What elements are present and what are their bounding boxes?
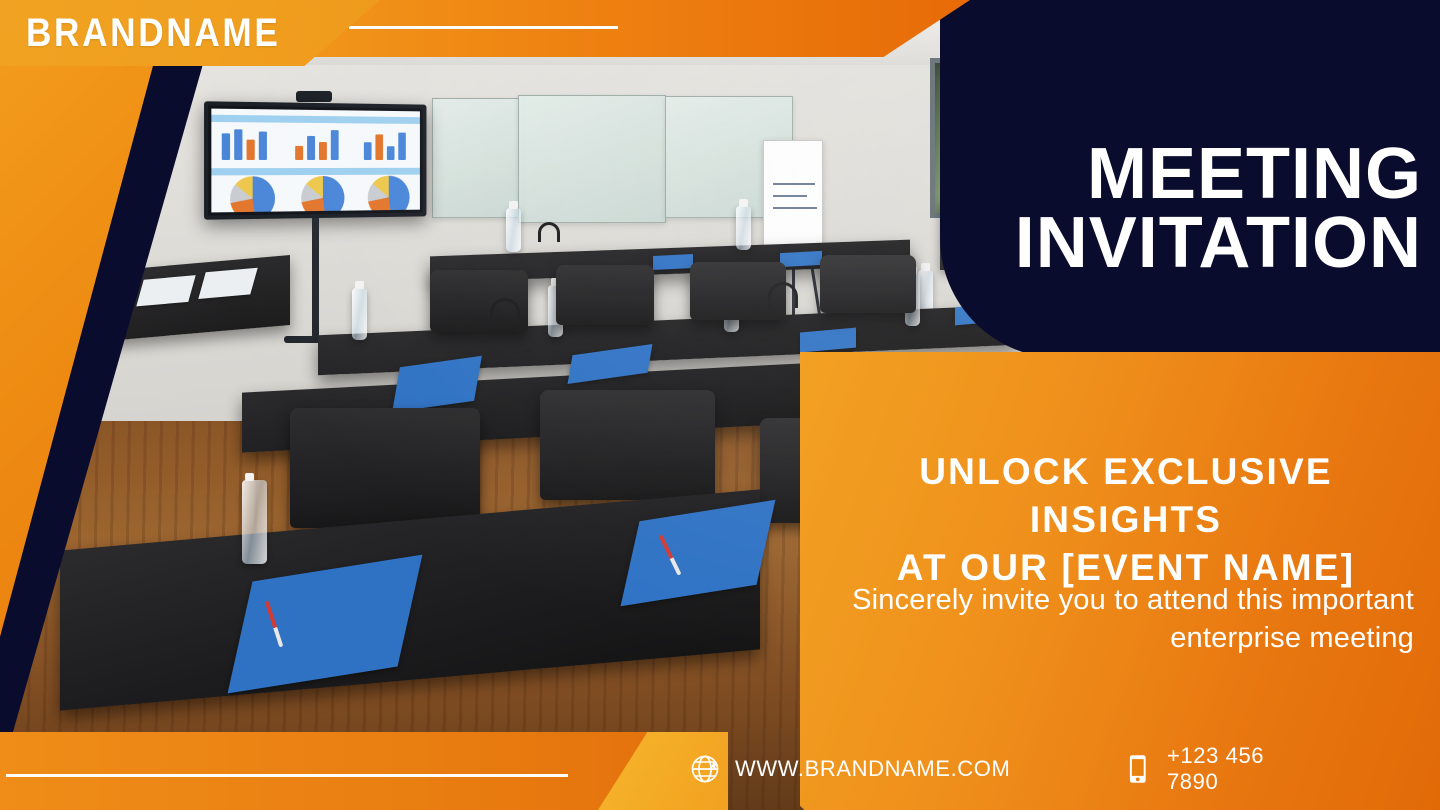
blue-folder: [780, 251, 822, 267]
blue-folder: [653, 254, 693, 270]
website-label: WWW.BRANDNAME.COM: [735, 756, 1010, 782]
chair: [556, 265, 654, 325]
glass-whiteboard: [432, 98, 524, 218]
invitation-body-text: Sincerely invite you to attend this impo…: [794, 582, 1414, 657]
phone-contact[interactable]: +123 456 7890: [1122, 743, 1320, 795]
bottom-orange-bar: [0, 732, 700, 810]
chair: [540, 390, 715, 500]
glass-whiteboard: [518, 95, 666, 223]
brand-name: BRANDNAME: [26, 11, 281, 56]
water-bottle: [506, 208, 521, 252]
presentation-display: [204, 101, 426, 219]
chair: [290, 408, 480, 528]
page-title: MEETING INVITATION: [952, 140, 1422, 278]
tagline-line-1: UNLOCK EXCLUSIVE INSIGHTS: [919, 451, 1332, 540]
water-bottle: [242, 480, 267, 564]
title-line-1: MEETING: [1087, 134, 1422, 214]
microphone: [490, 298, 520, 324]
website-contact[interactable]: WWW.BRANDNAME.COM: [690, 753, 1010, 785]
footer-contacts: WWW.BRANDNAME.COM +123 456 7890: [690, 746, 1320, 792]
display-screen: [211, 109, 420, 213]
chair: [820, 255, 916, 313]
microphone: [538, 222, 560, 242]
flip-chart-board: [763, 140, 823, 248]
globe-icon: [690, 753, 722, 785]
microphone: [768, 282, 798, 308]
bottom-divider-line: [6, 774, 568, 777]
display-camera: [296, 91, 332, 102]
display-stand: [312, 218, 319, 340]
title-line-2: INVITATION: [952, 209, 1422, 278]
phone-label: +123 456 7890: [1167, 743, 1320, 795]
tagline: UNLOCK EXCLUSIVE INSIGHTS AT OUR [EVENT …: [836, 448, 1416, 592]
water-bottle: [736, 206, 751, 250]
top-divider-line: [349, 26, 618, 29]
mobile-phone-icon: [1122, 753, 1154, 785]
water-bottle: [352, 288, 367, 340]
meeting-invitation-poster: BRANDNAME MEETING INVITATION UNLOCK EXCL…: [0, 0, 1440, 810]
